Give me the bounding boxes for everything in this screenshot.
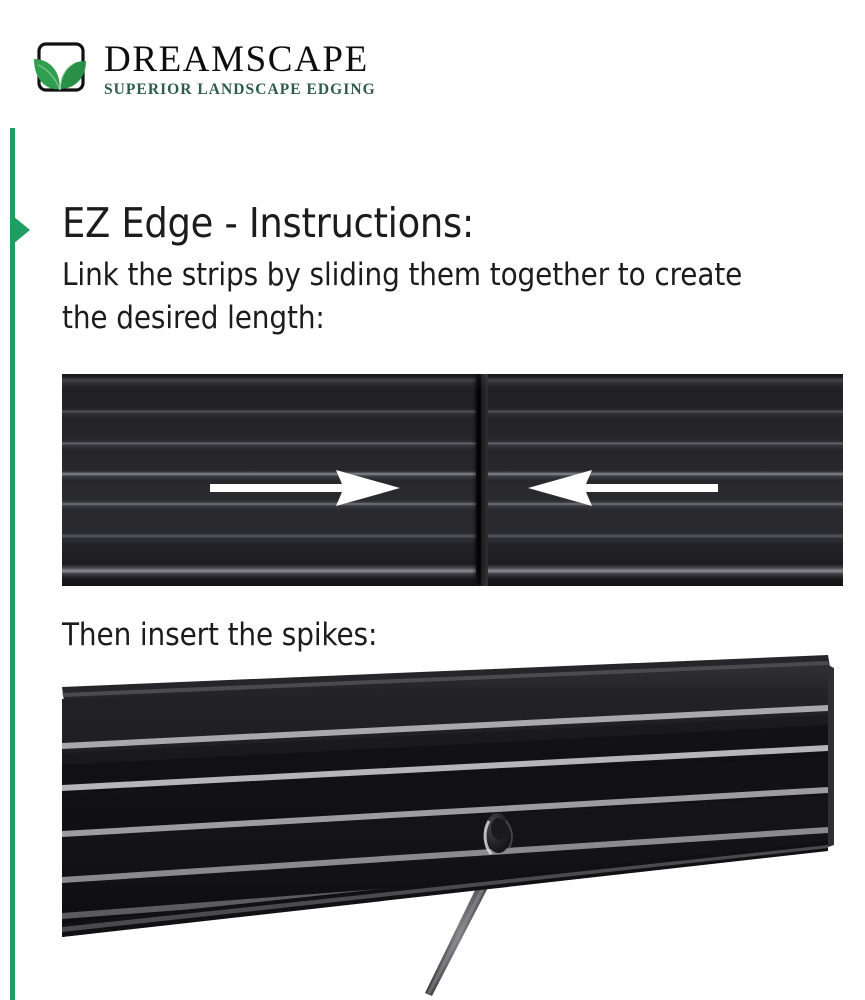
brand-title: DREAMSCAPE (104, 41, 376, 79)
brand-tagline: SUPERIOR LANDSCAPE EDGING (104, 81, 376, 99)
green-accent-rail (10, 128, 15, 1000)
arrow-right-icon (210, 470, 400, 506)
edging-strip-with-spike-photo: Black aluminum landscape edging strip ti… (62, 655, 843, 1000)
brand-header: DREAMSCAPE SUPERIOR LANDSCAPE EDGING (30, 38, 376, 101)
instructions-text-block: EZ Edge - Instructions: Link the strips … (62, 196, 832, 340)
instruction-sheet-page: DREAMSCAPE SUPERIOR LANDSCAPE EDGING EZ … (0, 0, 865, 1000)
brand-wordmark: DREAMSCAPE SUPERIOR LANDSCAPE EDGING (104, 38, 376, 99)
page-title: EZ Edge - Instructions: (62, 196, 832, 250)
triangle-right-marker-icon (13, 216, 30, 244)
step-1-instruction: Link the strips by sliding them together… (62, 254, 772, 340)
edging-strips-sliding-together-photo: Two black aluminum landscape edging stri… (62, 374, 843, 586)
arrow-left-icon (528, 470, 718, 506)
leaf-in-square-icon (30, 39, 92, 101)
step-2-instruction: Then insert the spikes: (62, 615, 377, 655)
